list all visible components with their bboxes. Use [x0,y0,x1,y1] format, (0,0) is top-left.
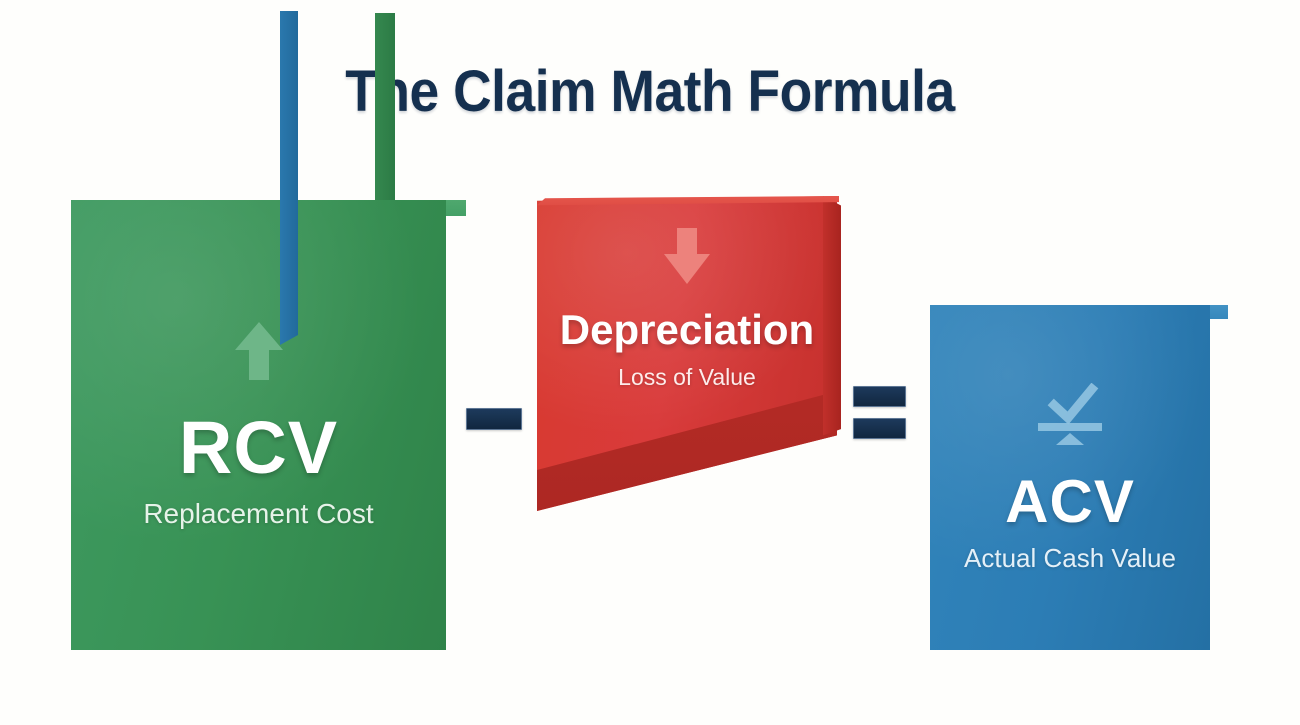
equals-operator [853,386,906,439]
rcv-box-front-face [71,200,446,650]
acv-box[interactable]: ACV Actual Cash Value [930,305,1210,650]
equals-operator-bar-bottom [853,418,906,439]
page-title: The Claim Math Formula [52,58,1248,125]
equals-operator-bar-top [853,386,906,407]
rcv-box[interactable]: RCV Replacement Cost [71,200,446,650]
depreciation-box[interactable]: Depreciation Loss of Value [537,196,837,511]
minus-operator-bar [466,408,522,430]
depreciation-box-side-face [823,196,841,511]
acv-box-front-face [930,305,1210,650]
acv-box-side-face [280,11,298,345]
minus-operator [466,408,522,430]
diagram-canvas: The Claim Math Formula RCV Replacement C… [0,0,1300,725]
